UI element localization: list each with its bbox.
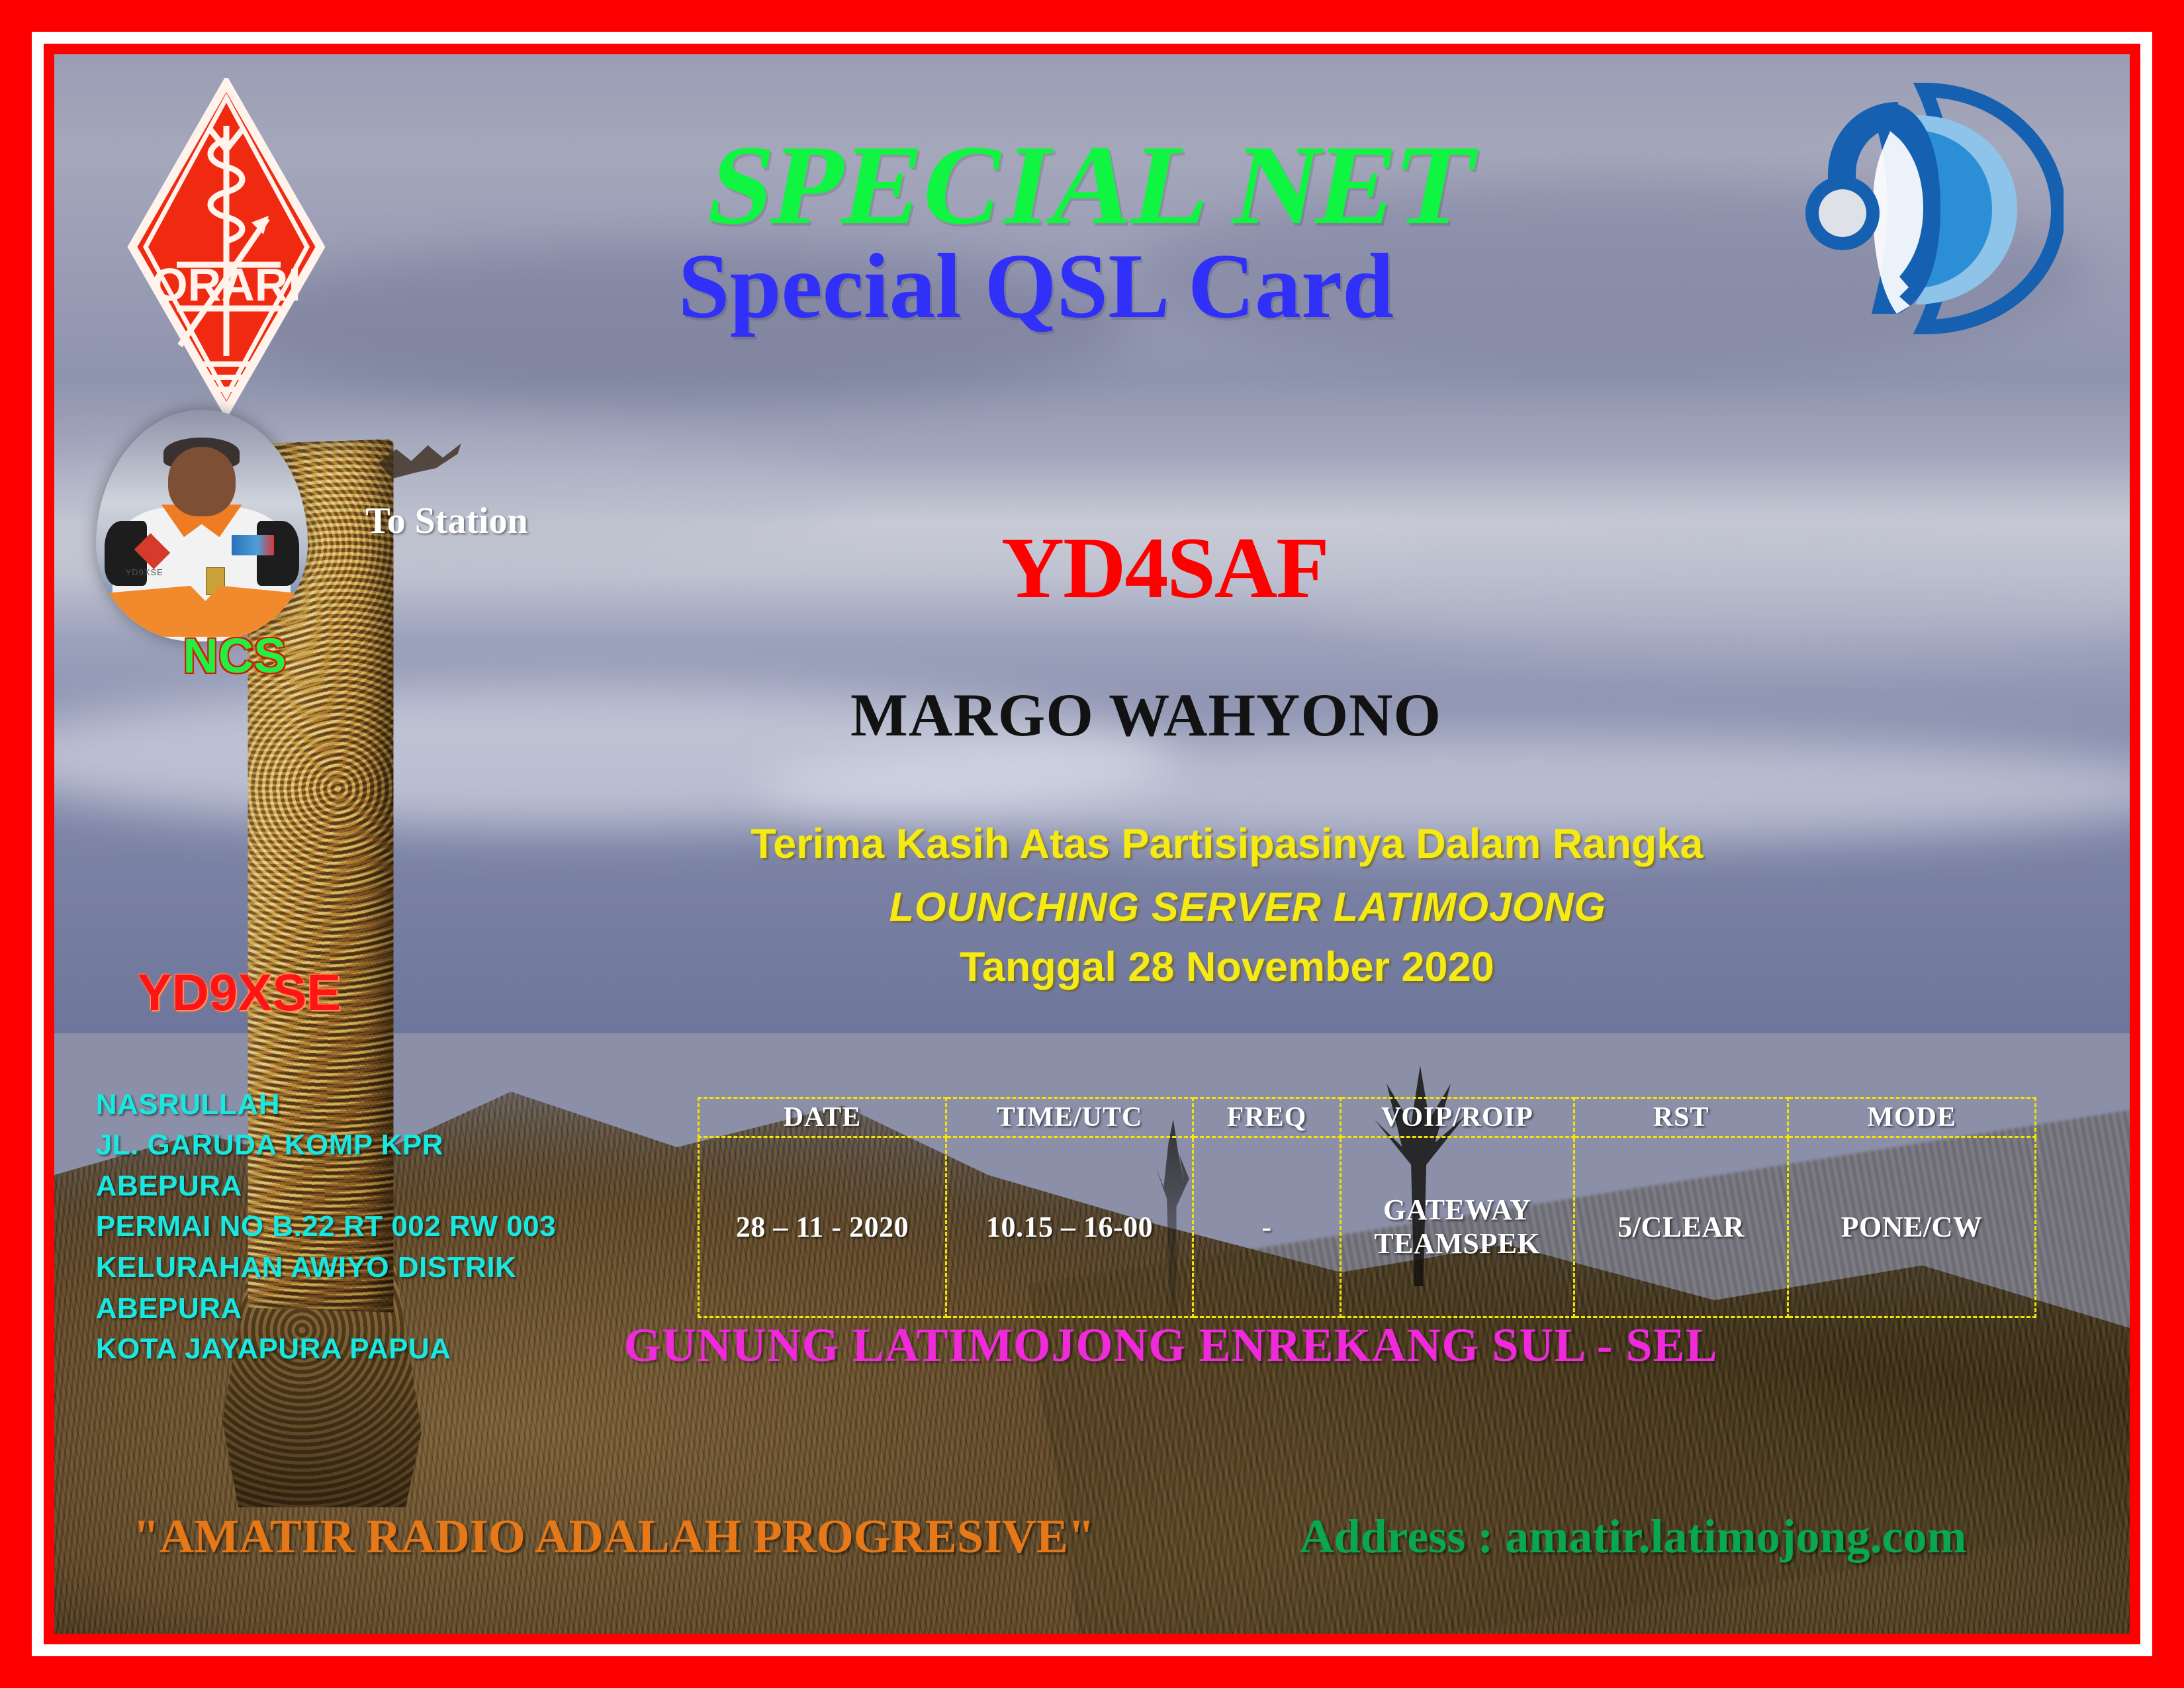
table-row: 28 – 11 - 2020 10.15 – 16-00 - GATEWAYTE… xyxy=(699,1137,2036,1317)
address-line: NASRULLAH xyxy=(96,1084,556,1125)
address-line: ABEPURA xyxy=(96,1166,556,1207)
cell-voip: GATEWAYTEAMSPEK xyxy=(1340,1137,1574,1317)
table-header-row: DATE TIME/UTC FREQ VOIP/ROIP RST MODE xyxy=(699,1098,2036,1137)
location-label: GUNUNG LATIMOJONG ENREKANG SUL - SEL xyxy=(624,1318,1718,1373)
address-line: JL. GARUDA KOMP KPR xyxy=(96,1125,556,1166)
orari-logo-text: ORARI xyxy=(152,259,301,310)
footer-web-address: Address : amatir.latimojong.com xyxy=(1300,1509,1967,1564)
page-subtitle: Special QSL Card xyxy=(678,233,1394,340)
event-name: LOUNCHING SERVER LATIMOJONG xyxy=(889,884,1606,930)
uniform-callsign-text: YD9XSE xyxy=(126,567,163,577)
event-date: Tanggal 28 November 2020 xyxy=(960,943,1494,991)
address-line: ABEPURA xyxy=(96,1288,556,1329)
to-station-label: To Station xyxy=(365,500,527,542)
column-header-mode: MODE xyxy=(1788,1098,2036,1137)
cell-freq: - xyxy=(1193,1137,1340,1317)
operator-photo: YD9XSE xyxy=(96,410,308,641)
thankyou-line-1: Terima Kasih Atas Partisipasinya Dalam R… xyxy=(751,820,1703,868)
address-line: KELURAHAN AWIYO DISTRIK xyxy=(96,1247,556,1288)
station-callsign: YD4SAF xyxy=(1001,517,1328,618)
column-header-voip: VOIP/ROIP xyxy=(1340,1098,1574,1137)
cell-rst: 5/CLEAR xyxy=(1574,1137,1788,1317)
card-inner-red-frame: ORARI xyxy=(44,44,2140,1644)
sender-address-block: NASRULLAH JL. GARUDA KOMP KPR ABEPURA PE… xyxy=(96,1084,556,1370)
column-header-time: TIME/UTC xyxy=(946,1098,1193,1137)
column-header-rst: RST xyxy=(1574,1098,1788,1137)
headset-profile-logo xyxy=(1799,78,2064,336)
column-header-freq: FREQ xyxy=(1193,1098,1340,1137)
cell-time: 10.15 – 16-00 xyxy=(946,1137,1193,1317)
page-title: SPECIAL NET xyxy=(698,120,1487,251)
uniform-patch xyxy=(232,535,274,556)
qso-log-table: DATE TIME/UTC FREQ VOIP/ROIP RST MODE 28… xyxy=(698,1097,2036,1318)
operator-face xyxy=(168,447,236,516)
station-operator-name: MARGO WAHYONO xyxy=(850,680,1441,750)
address-line: PERMAI NO B.22 RT 002 RW 003 xyxy=(96,1206,556,1247)
footer-motto: "AMATIR RADIO ADALAH PROGRESIVE" xyxy=(133,1509,1095,1564)
address-line: KOTA JAYAPURA PAPUA xyxy=(96,1329,556,1370)
qsl-card: ORARI xyxy=(0,0,2184,1688)
cell-date: 28 – 11 - 2020 xyxy=(699,1137,946,1317)
orari-logo: ORARI xyxy=(127,78,326,416)
column-header-date: DATE xyxy=(699,1098,946,1137)
cell-mode: PONE/CW xyxy=(1788,1137,2036,1317)
card-white-frame: ORARI xyxy=(32,32,2152,1656)
ncs-callsign: YD9XSE xyxy=(137,962,341,1023)
background-photograph: ORARI xyxy=(54,54,2130,1634)
ncs-label: NCS xyxy=(183,628,286,684)
